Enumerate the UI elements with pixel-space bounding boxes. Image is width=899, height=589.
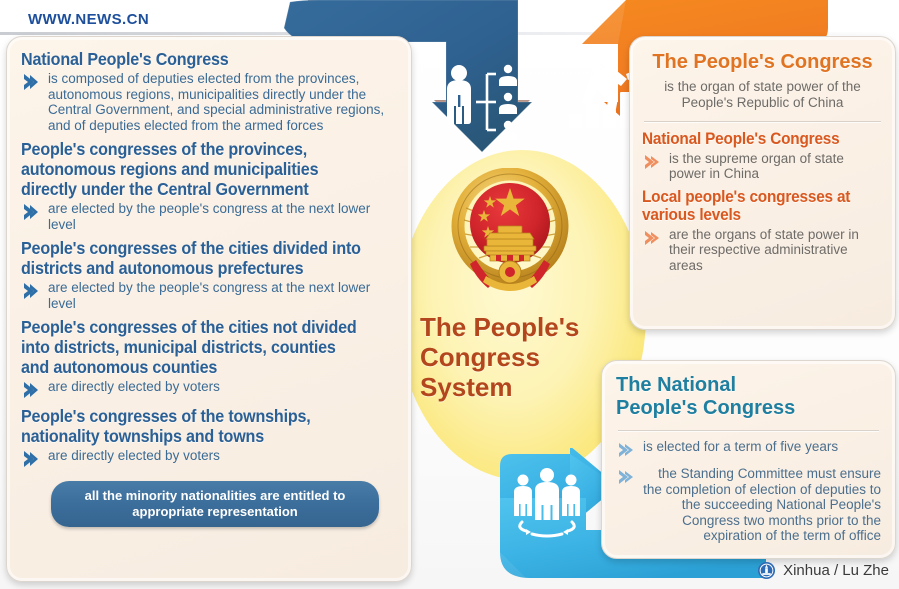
left-block-2: People's congresses of the cities divide… [21,238,397,311]
left-block-0-heading: National People's Congress [21,49,367,69]
infographic-canvas: WWW.NEWS.CN [0,0,899,589]
right-bottom-panel: The National People's Congress is electe… [601,360,896,559]
right-bottom-item-1-text: the Standing Committee must ensure the c… [643,466,881,544]
left-block-3: People's congresses of the cities not di… [21,317,397,400]
right-top-panel: The People's Congress is the organ of st… [629,36,896,330]
chevron-right-icon [616,467,636,487]
chevron-right-icon [21,380,41,400]
chevron-right-icon [21,202,41,222]
divider [618,430,879,431]
credit: Xinhua / Lu Zhe [757,561,889,580]
right-top-title: The People's Congress [642,51,883,73]
right-top-block-1: Local people's congresses at various lev… [642,188,883,274]
site-watermark: WWW.NEWS.CN [28,11,149,28]
left-block-2-heading: People's congresses of the cities divide… [21,238,367,278]
left-block-2-row: are elected by the people's congress at … [21,280,397,311]
center-title: The People's Congress System [420,312,630,402]
left-block-1-body: are elected by the people's congress at … [48,201,397,232]
left-block-1: People's congresses of the provinces, au… [21,139,397,232]
chevron-right-icon [642,228,662,248]
credit-text: Xinhua / Lu Zhe [783,562,889,579]
right-top-block-0-body: is the supreme organ of state power in C… [669,151,883,182]
left-block-4-body: are directly elected by voters [48,448,220,464]
right-bottom-title-line-2: People's Congress [616,397,881,420]
left-block-4: People's congresses of the townships, na… [21,406,397,469]
left-panel: National People's Congress is composed o… [6,36,412,582]
center-title-line-1: The People's [420,312,630,342]
minority-representation-pill: all the minority nationalities are entit… [51,481,379,527]
center-title-line-2: Congress [420,342,630,372]
right-top-block-0-heading: National People's Congress [642,130,866,149]
left-block-0: National People's Congress is composed o… [21,49,397,133]
right-bottom-item-0-text: is elected for a term of five years [643,439,838,455]
chevron-right-icon [616,440,636,460]
left-block-4-heading: People's congresses of the townships, na… [21,406,367,446]
left-block-0-row: is composed of deputies elected from the… [21,71,397,133]
chevron-right-icon [21,281,41,301]
org-chart-people-icon [442,62,532,145]
three-people-cycle-icon [508,468,586,543]
chevron-right-icon [21,449,41,469]
left-block-1-row: are elected by the people's congress at … [21,201,397,232]
left-block-0-body: is composed of deputies elected from the… [48,71,397,133]
right-top-block-0: National People's Congress is the suprem… [642,130,883,182]
chevron-right-icon [21,72,41,92]
right-top-subtitle: is the organ of state power of the Peopl… [642,79,883,111]
right-top-block-1-body: are the organs of state power in their r… [669,227,883,274]
left-block-2-body: are elected by the people's congress at … [48,280,397,311]
right-top-block-0-row: is the supreme organ of state power in C… [642,151,883,182]
right-bottom-item-1: the Standing Committee must ensure the c… [616,466,881,544]
chevron-right-icon [642,152,662,172]
left-block-3-body: are directly elected by voters [48,379,220,395]
left-block-1-heading: People's congresses of the provinces, au… [21,139,367,199]
left-block-3-row: are directly elected by voters [21,379,397,400]
left-block-3-heading: People's congresses of the cities not di… [21,317,367,377]
center-title-line-3: System [420,372,630,402]
left-block-4-row: are directly elected by voters [21,448,397,469]
right-top-block-1-heading: Local people's congresses at various lev… [642,188,866,225]
national-emblem-of-china [446,168,574,296]
right-top-block-1-row: are the organs of state power in their r… [642,227,883,274]
divider [644,121,881,122]
right-bottom-item-0: is elected for a term of five years [616,439,881,460]
right-bottom-title-line-1: The National [616,374,881,397]
xinhua-logo [757,561,776,580]
